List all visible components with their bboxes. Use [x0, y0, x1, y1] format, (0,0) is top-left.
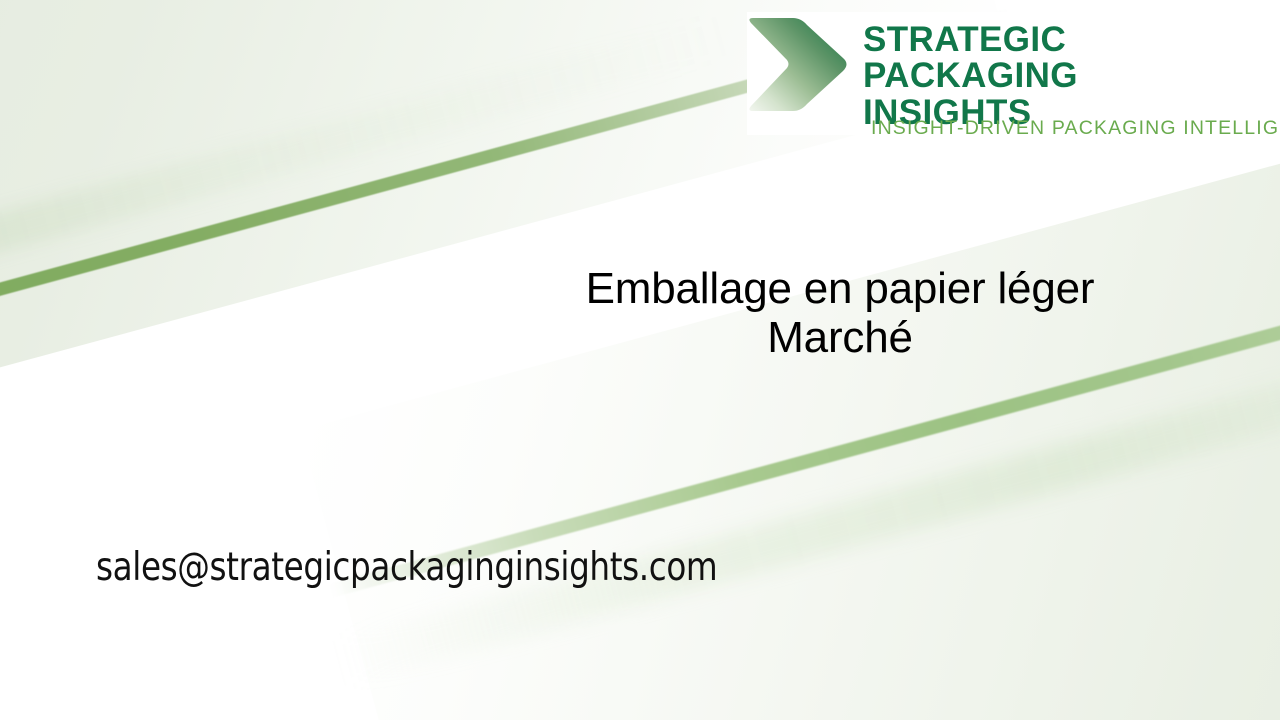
- contact-email[interactable]: sales@strategicpackaginginsights.com: [96, 545, 717, 590]
- logo-tagline: INSIGHT-DRIVEN PACKAGING INTELLIGENCE: [871, 117, 1280, 140]
- bottom-right-soft-streak: [334, 379, 1280, 686]
- logo-wordmark: STRATEGIC PACKAGING INSIGHTS: [863, 22, 1253, 131]
- page-title: Emballage en papier léger Marché: [400, 264, 1280, 363]
- page-title-line-2: Marché: [767, 313, 913, 362]
- top-left-soft-streak: [0, 15, 734, 290]
- title-slide: STRATEGIC PACKAGING INSIGHTS INSIGHT-DRI…: [0, 0, 1280, 720]
- logo-primary-row: STRATEGIC PACKAGING INSIGHTS: [747, 12, 1253, 131]
- logo-brand-line-1: STRATEGIC: [863, 22, 1253, 58]
- company-logo: STRATEGIC PACKAGING INSIGHTS INSIGHT-DRI…: [747, 12, 1253, 135]
- page-title-line-1: Emballage en papier léger: [586, 264, 1095, 313]
- bottom-right-green-wedge: [300, 102, 1280, 720]
- chevron-arrow-icon: [747, 14, 851, 114]
